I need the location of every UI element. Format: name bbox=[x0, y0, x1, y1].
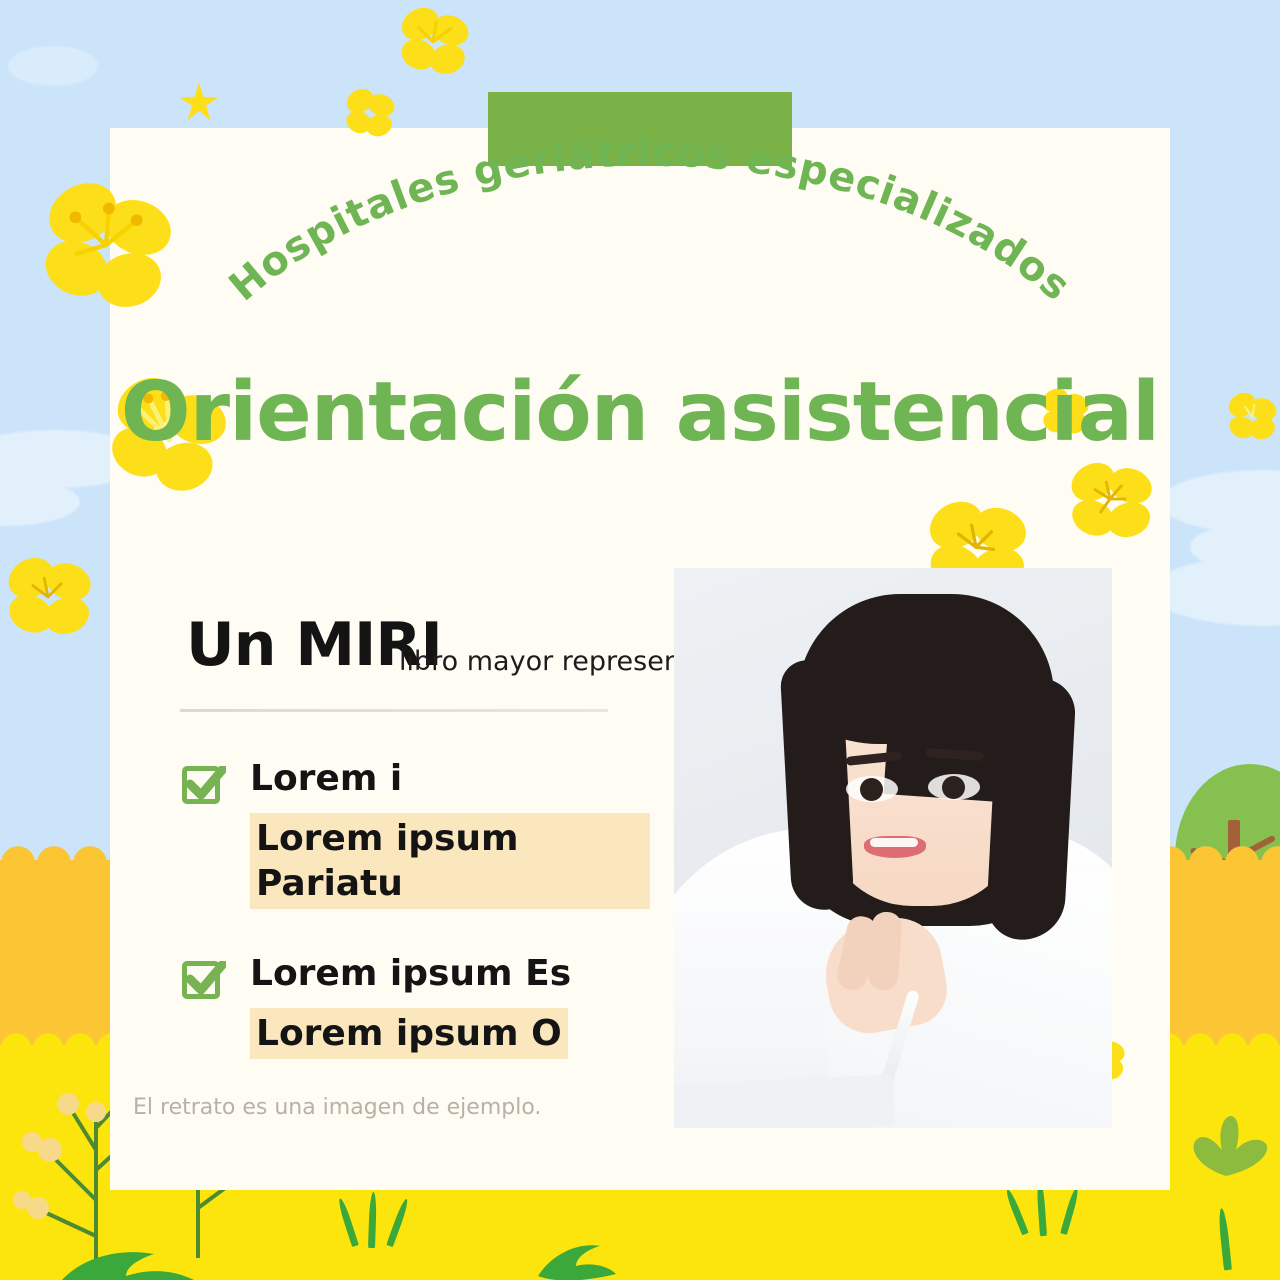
photo-caption: El retrato es una imagen de ejemplo. bbox=[133, 1095, 541, 1120]
flower-icon bbox=[0, 548, 96, 642]
list-item-heading: Lorem ipsum Es bbox=[250, 951, 650, 996]
leaf-icon bbox=[1178, 1110, 1274, 1180]
checkbox-checked-icon bbox=[180, 955, 226, 1001]
list-item-highlight: Lorem ipsum Pariatu bbox=[250, 813, 650, 909]
list-item: Lorem i Lorem ipsum Pariatu bbox=[180, 756, 650, 909]
photo-hair-side-right bbox=[985, 676, 1077, 942]
photo-hair-side-left bbox=[780, 659, 855, 912]
leaf-icon bbox=[58, 1240, 198, 1280]
photo-eye bbox=[860, 778, 883, 801]
list-item: Lorem ipsum Es Lorem ipsum O bbox=[180, 951, 650, 1059]
lede-block: Un MIRI libro mayor representativo bbox=[186, 615, 656, 695]
divider bbox=[180, 709, 608, 712]
leaf-icon bbox=[530, 1232, 620, 1280]
flower-icon bbox=[392, 0, 474, 80]
photo-eye bbox=[942, 776, 965, 799]
checklist: Lorem i Lorem ipsum Pariatu Lorem ipsum … bbox=[180, 756, 650, 1101]
flower-icon bbox=[340, 84, 398, 140]
checkbox-checked-icon bbox=[180, 760, 226, 806]
doctor-portrait-photo bbox=[674, 568, 1112, 1128]
photo-teeth bbox=[870, 838, 918, 847]
photo-finger bbox=[867, 911, 902, 991]
cloud-icon bbox=[8, 46, 98, 86]
flower-icon bbox=[152, 98, 214, 158]
flower-icon bbox=[32, 172, 180, 318]
page-title: Orientación asistencial bbox=[0, 372, 1280, 454]
list-item-highlight: Lorem ipsum O bbox=[250, 1008, 568, 1059]
list-item-heading: Lorem i bbox=[250, 756, 650, 801]
